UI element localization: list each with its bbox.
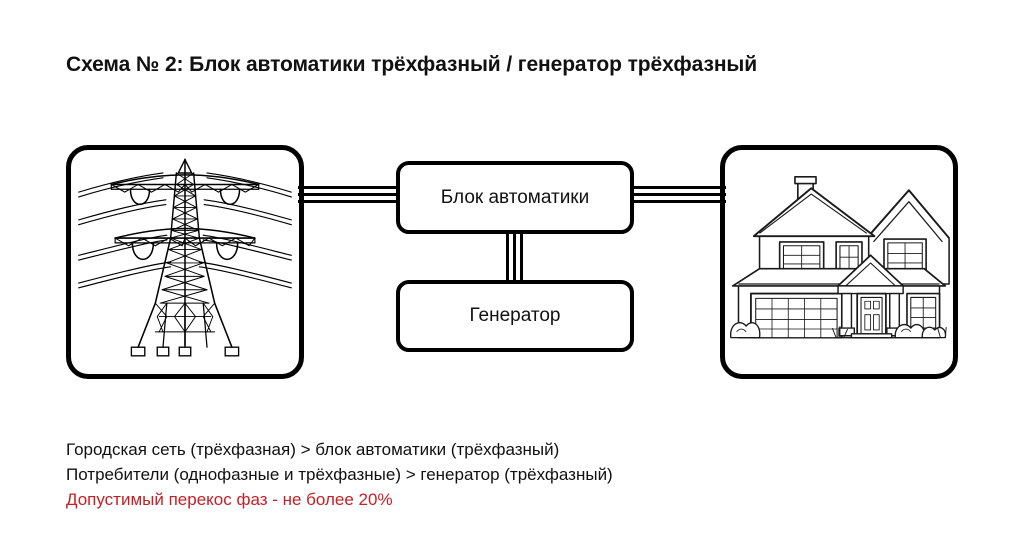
connector-automation-to-house bbox=[630, 186, 726, 203]
phase-wire-l3 bbox=[298, 200, 400, 203]
caption-line-2: Потребители (однофазные и трёхфазные) > … bbox=[66, 462, 946, 487]
house-icon bbox=[725, 150, 953, 374]
phase-wire-l2 bbox=[298, 193, 400, 196]
automation-block-label: Блок автоматики bbox=[441, 187, 589, 209]
node-house-frame bbox=[720, 145, 958, 379]
power-transmission-tower-icon bbox=[71, 150, 299, 374]
phase-wire-r1 bbox=[630, 186, 726, 189]
node-grid-frame bbox=[66, 145, 304, 379]
connector-automation-to-generator bbox=[506, 230, 523, 284]
phase-wire-m2 bbox=[513, 230, 516, 284]
phase-wire-l1 bbox=[298, 186, 400, 189]
phase-wire-r2 bbox=[630, 193, 726, 196]
node-automation-block[interactable]: Блок автоматики bbox=[396, 161, 634, 234]
phase-wire-m1 bbox=[506, 230, 509, 284]
caption-block: Городская сеть (трёхфазная) > блок автом… bbox=[66, 437, 946, 512]
page-title: Схема № 2: Блок автоматики трёхфазный / … bbox=[66, 53, 757, 77]
node-generator[interactable]: Генератор bbox=[396, 280, 634, 352]
caption-line-3-warning: Допустимый перекос фаз - не более 20% bbox=[66, 487, 946, 512]
phase-wire-r3 bbox=[630, 200, 726, 203]
phase-wire-m3 bbox=[520, 230, 523, 284]
generator-label: Генератор bbox=[470, 305, 561, 327]
caption-line-1: Городская сеть (трёхфазная) > блок автом… bbox=[66, 437, 946, 462]
connector-grid-to-automation bbox=[298, 186, 400, 203]
